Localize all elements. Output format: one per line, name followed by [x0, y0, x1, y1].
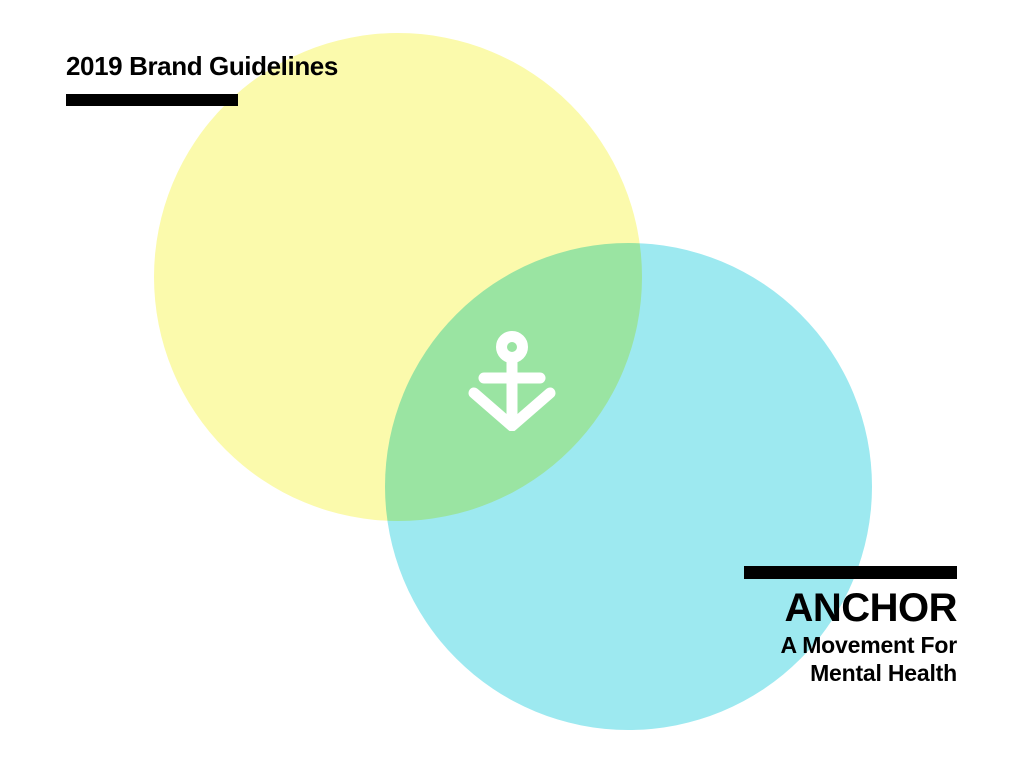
anchor-icon — [464, 331, 560, 431]
title-underline-rule — [66, 94, 238, 106]
brand-tagline-line-1: A Movement For — [660, 631, 957, 659]
brand-block: ANCHOR A Movement For Mental Health — [660, 566, 957, 687]
brand-name: ANCHOR — [660, 587, 957, 629]
title-block: 2019 Brand Guidelines — [66, 50, 486, 106]
page-title: 2019 Brand Guidelines — [66, 50, 486, 82]
brand-guidelines-slide: 2019 Brand Guidelines ANCHOR A Movement … — [0, 0, 1024, 768]
brand-tagline-line-2: Mental Health — [660, 659, 957, 687]
brand-underline-rule — [744, 566, 957, 579]
